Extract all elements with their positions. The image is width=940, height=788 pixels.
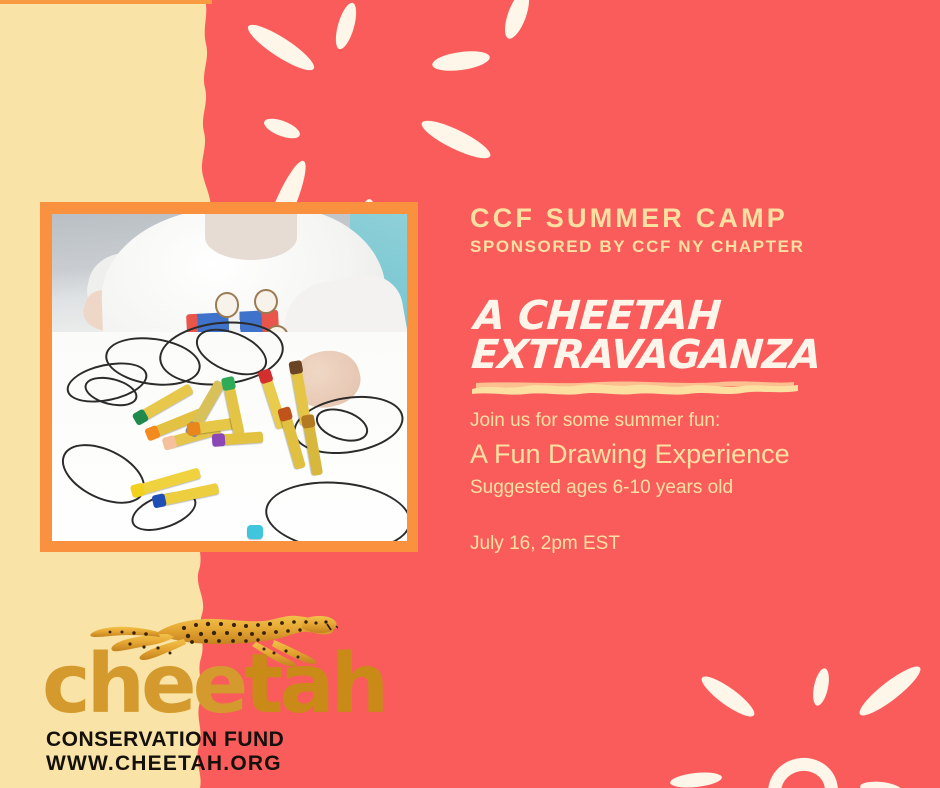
poster-canvas: CCF SUMMER CAMP SPONSORED BY CCF NY CHAP…: [0, 0, 940, 788]
logo-wordmark: cheetah: [42, 644, 332, 726]
activity-text: A Fun Drawing Experience: [470, 439, 890, 470]
headline-line-2: EXTRAVAGANZA: [470, 336, 913, 375]
datetime-text: July 16, 2pm EST: [470, 533, 890, 555]
ages-text: Suggested ages 6-10 years old: [470, 477, 890, 499]
top-orange-accent: [0, 0, 212, 4]
intro-text: Join us for some summer fun:: [470, 410, 890, 432]
copy-block: CCF SUMMER CAMP SPONSORED BY CCF NY CHAP…: [470, 204, 910, 375]
logo-subtitle: Conservation Fund: [46, 728, 284, 752]
photo-frame: [40, 202, 418, 552]
logo-url: www.cheetah.org: [46, 752, 282, 776]
ccf-logo: cheetah Conservation Fund www.cheetah.or…: [42, 600, 332, 778]
brush-underline: [470, 380, 800, 396]
logo-word-part1: chee: [42, 637, 244, 732]
sunburst-bottom-right-icon: [660, 630, 940, 788]
logo-word-part2: tah: [244, 637, 385, 732]
camp-photo: [52, 214, 407, 541]
headline: A CHEETAH EXTRAVAGANZA: [470, 297, 915, 375]
sponsor-line: SPONSORED BY CCF NY CHAPTER: [470, 237, 910, 257]
page-title: CCF SUMMER CAMP: [470, 204, 910, 233]
details-block: Join us for some summer fun: A Fun Drawi…: [470, 410, 890, 555]
